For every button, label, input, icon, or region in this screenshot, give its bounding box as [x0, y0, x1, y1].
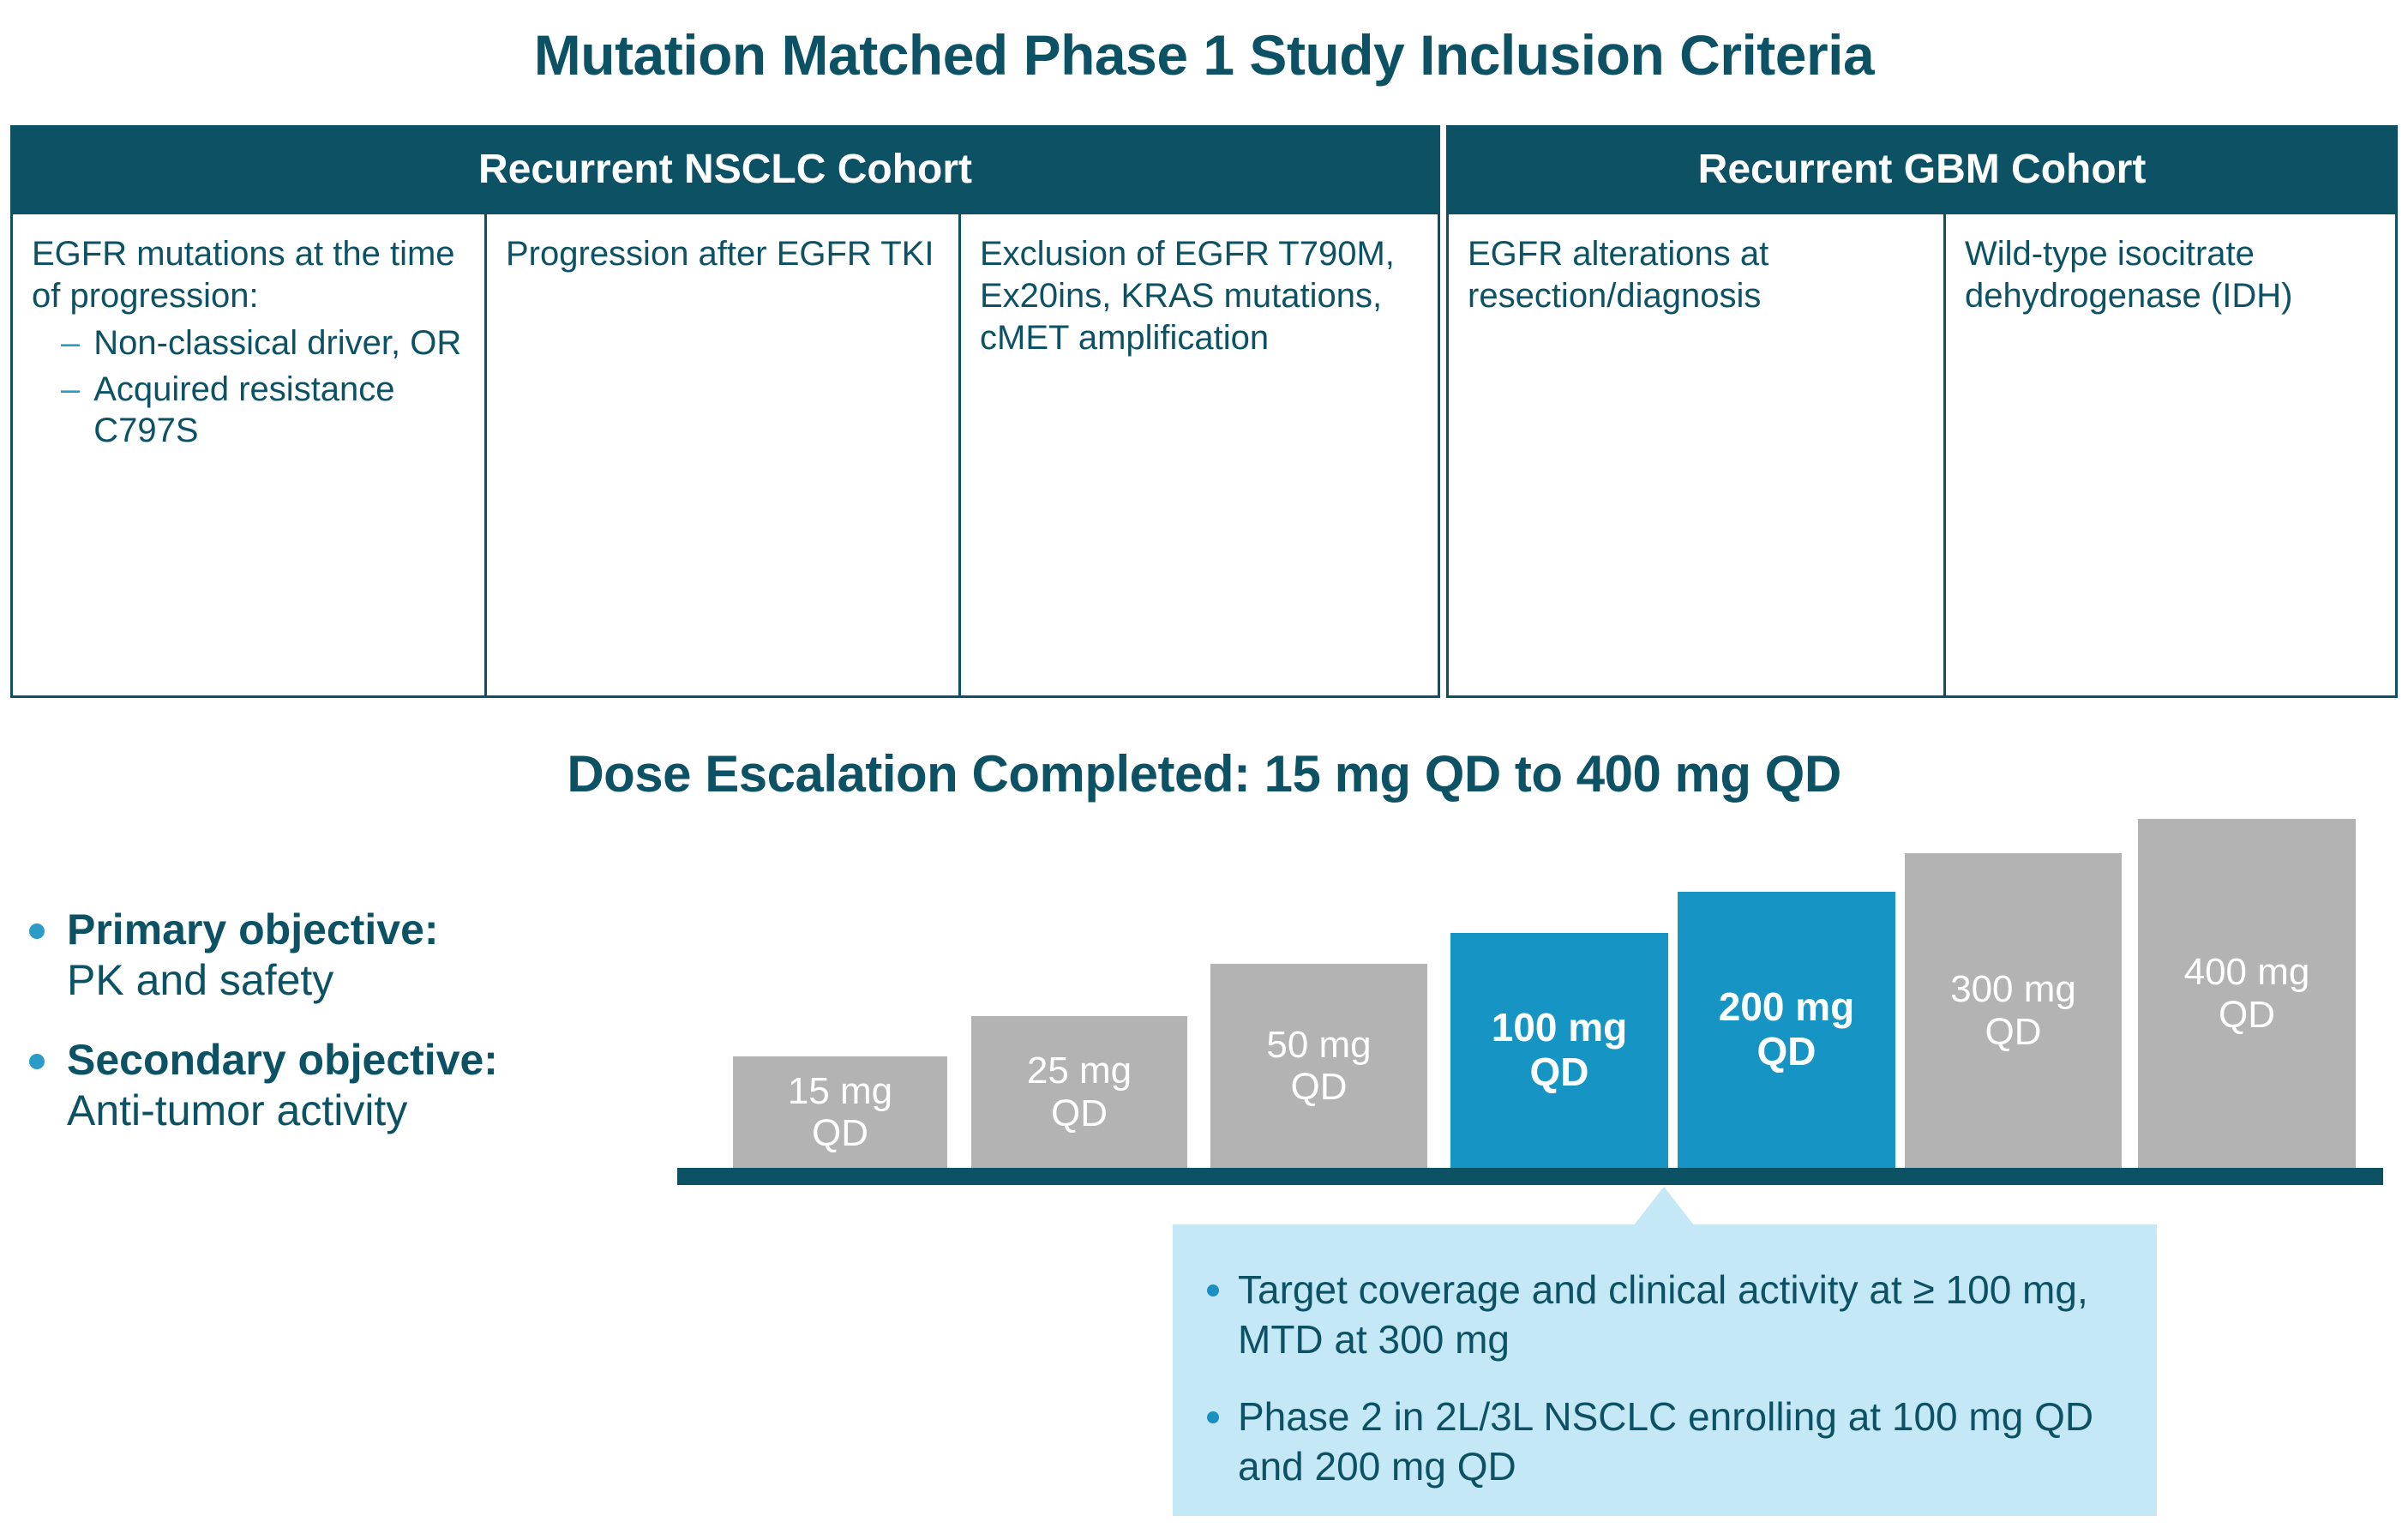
study-objectives-list: Primary objective: PK and safety Seconda…: [29, 905, 681, 1165]
objective-detail: PK and safety: [67, 955, 439, 1006]
bar-100mg: 100 mgQD: [1450, 933, 1668, 1168]
list-item: – Non-classical driver, OR: [61, 322, 469, 364]
page-title: Mutation Matched Phase 1 Study Inclusion…: [0, 22, 2408, 87]
gbm-cohort-body: EGFR alterations at resection/diagnosis …: [1446, 214, 2398, 698]
slide-root: Mutation Matched Phase 1 Study Inclusion…: [0, 0, 2408, 1528]
bar-label: 15 mgQD: [738, 1070, 942, 1155]
bar-15mg: 15 mgQD: [733, 1056, 947, 1168]
bar-50mg: 50 mgQD: [1210, 964, 1427, 1168]
bullet-icon: [29, 1054, 45, 1069]
list-item: Primary objective: PK and safety: [29, 905, 681, 1006]
objective-label: Primary objective:: [67, 905, 439, 955]
sub-item-label: Acquired resistance C797S: [93, 369, 469, 451]
gbm-cohort-header: Recurrent GBM Cohort: [1446, 125, 2398, 214]
bar-25mg: 25 mgQD: [971, 1016, 1187, 1168]
bar-300mg: 300 mgQD: [1905, 853, 2122, 1168]
bar-label: 400 mgQD: [2143, 951, 2351, 1036]
chart-baseline: [677, 1168, 2383, 1185]
bar-200mg: 200 mgQD: [1678, 892, 1895, 1168]
list-item: Phase 2 in 2L/3L NSCLC enrolling at 100 …: [1207, 1393, 2119, 1492]
dash-icon: –: [61, 322, 80, 364]
bar-label: 200 mgQD: [1683, 985, 1890, 1074]
criteria-cell-egfr-alterations: EGFR alterations at resection/diagnosis: [1449, 214, 1946, 695]
criteria-cell-text: Wild-type isocitrate dehydrogenase (IDH): [1965, 233, 2380, 317]
objective-label: Secondary objective:: [67, 1035, 498, 1086]
bar-label: 300 mgQD: [1910, 968, 2117, 1053]
nsclc-cohort-table: Recurrent NSCLC Cohort EGFR mutations at…: [10, 125, 1440, 698]
criteria-cell-text: EGFR mutations at the time of progressio…: [32, 233, 469, 317]
sub-item-label: Non-classical driver, OR: [93, 322, 461, 364]
bar-400mg: 400 mgQD: [2138, 819, 2356, 1168]
nsclc-cohort-body: EGFR mutations at the time of progressio…: [10, 214, 1440, 698]
inclusion-criteria-tables: Recurrent NSCLC Cohort EGFR mutations at…: [0, 125, 2408, 700]
list-item: – Acquired resistance C797S: [61, 369, 469, 451]
dose-callout-box: Target coverage and clinical activity at…: [1173, 1224, 2157, 1516]
criteria-cell-text: Exclusion of EGFR T790M, Ex20ins, KRAS m…: [980, 233, 1422, 358]
bullet-icon: [1207, 1284, 1219, 1296]
dose-escalation-title: Dose Escalation Completed: 15 mg QD to 4…: [0, 744, 2408, 803]
callout-bullet-text: Phase 2 in 2L/3L NSCLC enrolling at 100 …: [1238, 1393, 2119, 1492]
criteria-cell-text: Progression after EGFR TKI: [506, 233, 943, 275]
bar-label: 25 mgQD: [976, 1050, 1182, 1134]
callout-pointer-icon: [1633, 1187, 1695, 1226]
gbm-cohort-table: Recurrent GBM Cohort EGFR alterations at…: [1446, 125, 2398, 698]
criteria-cell-egfr-mutations: EGFR mutations at the time of progressio…: [13, 214, 487, 695]
list-item: Secondary objective: Anti-tumor activity: [29, 1035, 681, 1136]
criteria-cell-text: EGFR alterations at resection/diagnosis: [1468, 233, 1928, 317]
objective-text: Secondary objective: Anti-tumor activity: [67, 1035, 498, 1136]
callout-bullet-text: Target coverage and clinical activity at…: [1238, 1266, 2119, 1365]
nsclc-cohort-header: Recurrent NSCLC Cohort: [10, 125, 1440, 214]
bar-label: 100 mgQD: [1456, 1006, 1663, 1094]
criteria-cell-progression: Progression after EGFR TKI: [487, 214, 961, 695]
bullet-icon: [1207, 1411, 1219, 1423]
bullet-icon: [29, 923, 45, 939]
bar-label: 50 mgQD: [1216, 1024, 1422, 1109]
criteria-sublist: – Non-classical driver, OR – Acquired re…: [32, 322, 469, 451]
dash-icon: –: [61, 369, 80, 410]
objective-detail: Anti-tumor activity: [67, 1086, 498, 1136]
criteria-cell-exclusion: Exclusion of EGFR T790M, Ex20ins, KRAS m…: [961, 214, 1438, 695]
criteria-cell-wildtype-idh: Wild-type isocitrate dehydrogenase (IDH): [1946, 214, 2395, 695]
list-item: Target coverage and clinical activity at…: [1207, 1266, 2119, 1365]
objective-text: Primary objective: PK and safety: [67, 905, 439, 1006]
